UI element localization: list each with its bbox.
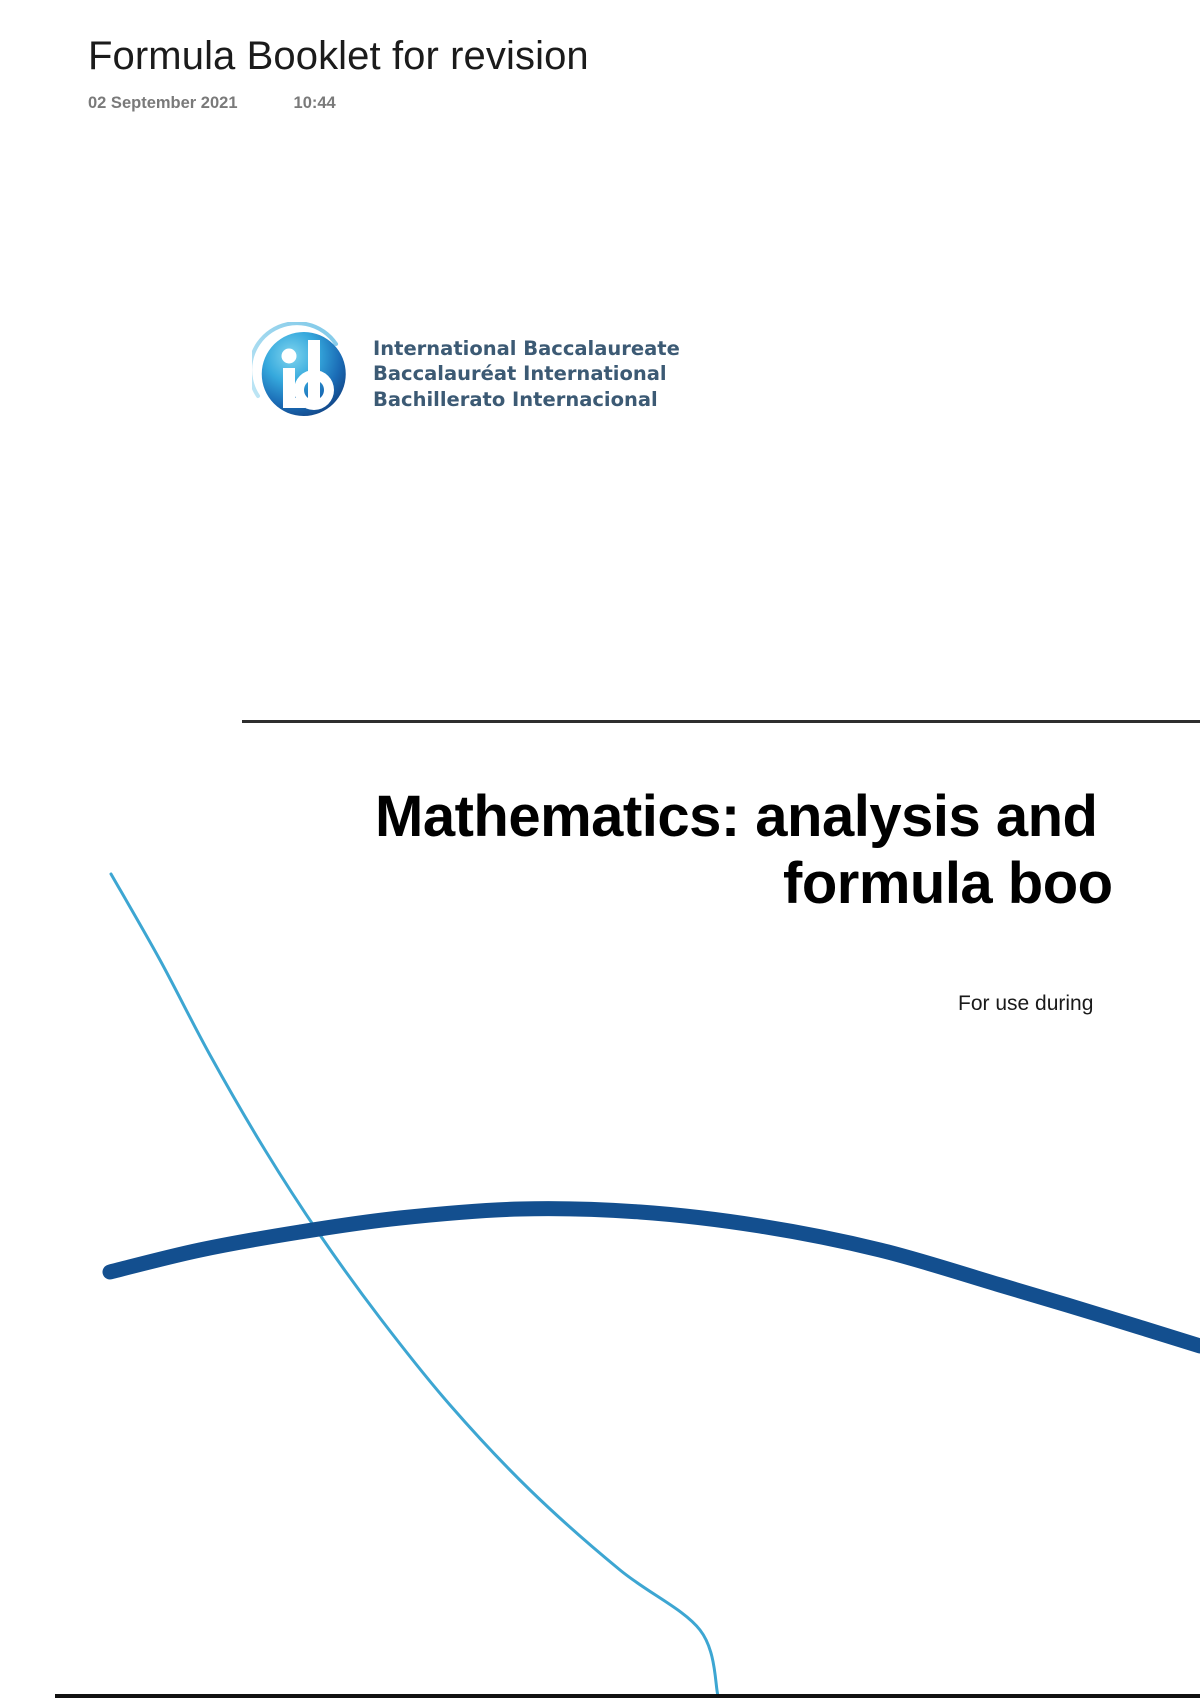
booklet-title: Mathematics: analysis and formula boo (0, 784, 1200, 917)
page-title[interactable]: Formula Booklet for revision (88, 34, 988, 78)
ib-logo-line-fr: Baccalauréat International (373, 361, 680, 386)
header-divider-rule (242, 720, 1200, 723)
note-page-header: Formula Booklet for revision 02 Septembe… (88, 34, 988, 113)
booklet-title-line-2: formula boo (783, 851, 1200, 918)
booklet-subtitle: For use during (958, 992, 1093, 1016)
note-time: 10:44 (294, 94, 336, 113)
ib-logo-wordmark: International Baccalaureate Baccalauréat… (373, 336, 680, 412)
ib-logo: International Baccalaureate Baccalauréat… (252, 322, 680, 426)
page-bottom-rule (55, 1694, 1200, 1698)
ib-logo-line-es: Bachillerato Internacional (373, 387, 680, 412)
note-timestamp: 02 September 2021 10:44 (88, 94, 988, 113)
embedded-pdf-printout[interactable]: International Baccalaureate Baccalauréat… (0, 150, 1200, 1700)
booklet-title-line-1: Mathematics: analysis and (375, 784, 1200, 851)
ib-logo-line-en: International Baccalaureate (373, 336, 680, 361)
ib-globe-logo-icon (252, 322, 356, 426)
note-date: 02 September 2021 (88, 94, 238, 113)
